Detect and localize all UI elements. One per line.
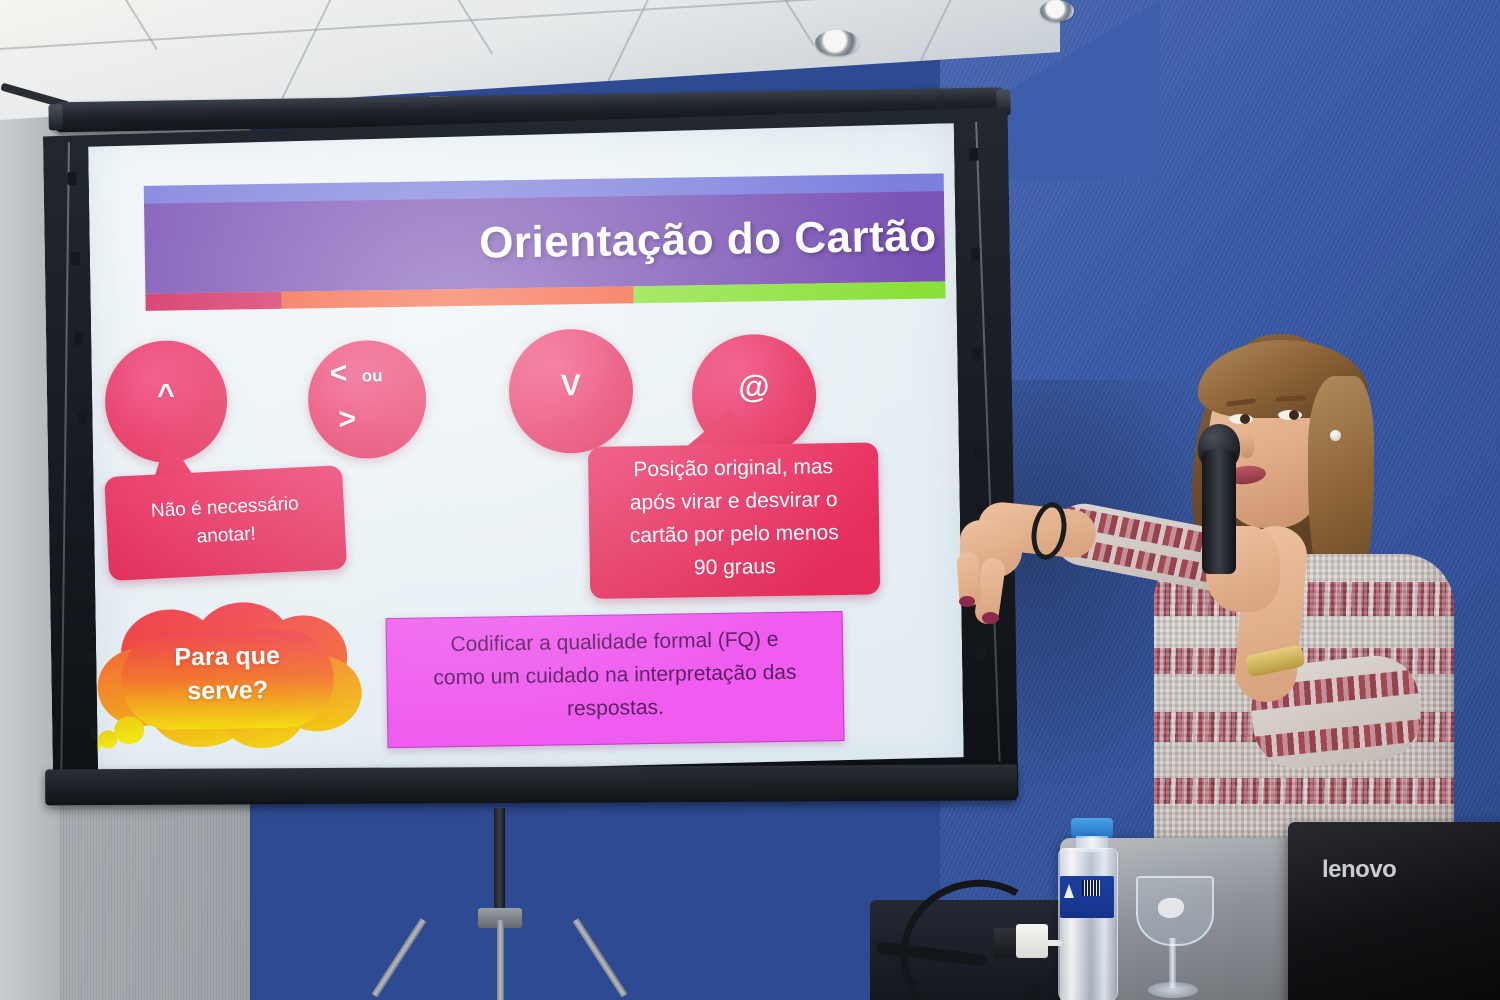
snap [87, 652, 96, 665]
fingernail-middle [959, 596, 975, 607]
cloud-trail-bubble-large [114, 716, 144, 744]
snap [77, 412, 86, 425]
bottle-label-barcode [1082, 880, 1100, 896]
lecture-room-photo: Orientação do Cartão ^ < ou > V @ [0, 0, 1500, 1000]
accent-bar-green [633, 281, 945, 303]
position-bubble-line-4: 90 graus [590, 553, 880, 582]
black-laptop[interactable]: lenovo [1288, 822, 1500, 1000]
circle-down-v-label: V [509, 368, 634, 404]
note-bubble-group: Não é necessário anotar! [102, 426, 369, 587]
tripod-leg-center [497, 920, 504, 1000]
note-bubble-line-2: anotar! [107, 519, 346, 553]
tripod-leg-left [372, 918, 427, 997]
codificar-line-1: Codificar a qualidade formal (FQ) e [397, 626, 832, 658]
snap [71, 252, 80, 265]
page-title: Orientação do Cartão [479, 211, 937, 268]
water-bottle[interactable] [1058, 848, 1118, 1000]
position-bubble-line-2: após virar e desvirar o [589, 487, 879, 516]
circle-at-sign-label: @ [692, 367, 817, 406]
codificar-box: Codificar a qualidade formal (FQ) e como… [386, 611, 845, 748]
bottle-cap[interactable] [1071, 818, 1113, 838]
circle-ou-label: ou [362, 366, 383, 386]
slide-canvas: Orientação do Cartão ^ < ou > V @ [88, 123, 964, 779]
cloud-line-1: Para que [91, 641, 363, 674]
fingernail-index [982, 612, 999, 624]
eye-right-iris [1289, 410, 1299, 420]
codificar-line-3: respostas. [398, 692, 833, 724]
snap [68, 172, 77, 185]
wine-glass-stem [1169, 938, 1176, 988]
lenovo-logo: lenovo [1322, 856, 1396, 884]
position-bubble-group: Posição original, mas após virar e desvi… [587, 406, 880, 611]
tripod-leg-right [573, 918, 628, 997]
nose [1240, 434, 1254, 458]
wine-glass-foot [1148, 982, 1198, 998]
cloud-line-2: serve? [91, 675, 363, 708]
slide-title-band: Orientação do Cartão [144, 173, 946, 294]
microphone [1202, 450, 1236, 574]
snap [81, 492, 90, 505]
screen-bottom-bar [45, 764, 1017, 805]
circle-left-caret-label: < [329, 357, 347, 391]
snap [969, 148, 978, 161]
tripod-post [494, 808, 505, 916]
adapter-plug [1044, 940, 1062, 946]
cloud-trail-bubble-mid [98, 730, 117, 748]
position-bubble: Posição original, mas após virar e desvi… [588, 442, 880, 599]
accent-bar-crimson [145, 292, 281, 311]
ceiling-light-left [815, 30, 859, 56]
codificar-line-2: como um cuidado na interpretação das [397, 659, 832, 691]
position-bubble-line-1: Posição original, mas [588, 454, 878, 483]
snap [971, 248, 980, 261]
snap [74, 332, 83, 345]
eye-left-iris [1240, 414, 1250, 424]
earring [1330, 430, 1341, 441]
projector-screen: Orientação do Cartão ^ < ou > V @ [34, 87, 1010, 822]
para-que-serve-cloud: Para que serve? [90, 601, 364, 755]
ceiling-light-right [1040, 0, 1074, 22]
sleeve-stripe [1254, 719, 1423, 758]
circle-up-caret-label: ^ [105, 378, 228, 414]
snap [84, 572, 93, 585]
note-bubble: Não é necessário anotar! [104, 465, 347, 581]
position-bubble-line-3: cartão por pelo menos [589, 520, 879, 549]
presenter [940, 330, 1460, 890]
